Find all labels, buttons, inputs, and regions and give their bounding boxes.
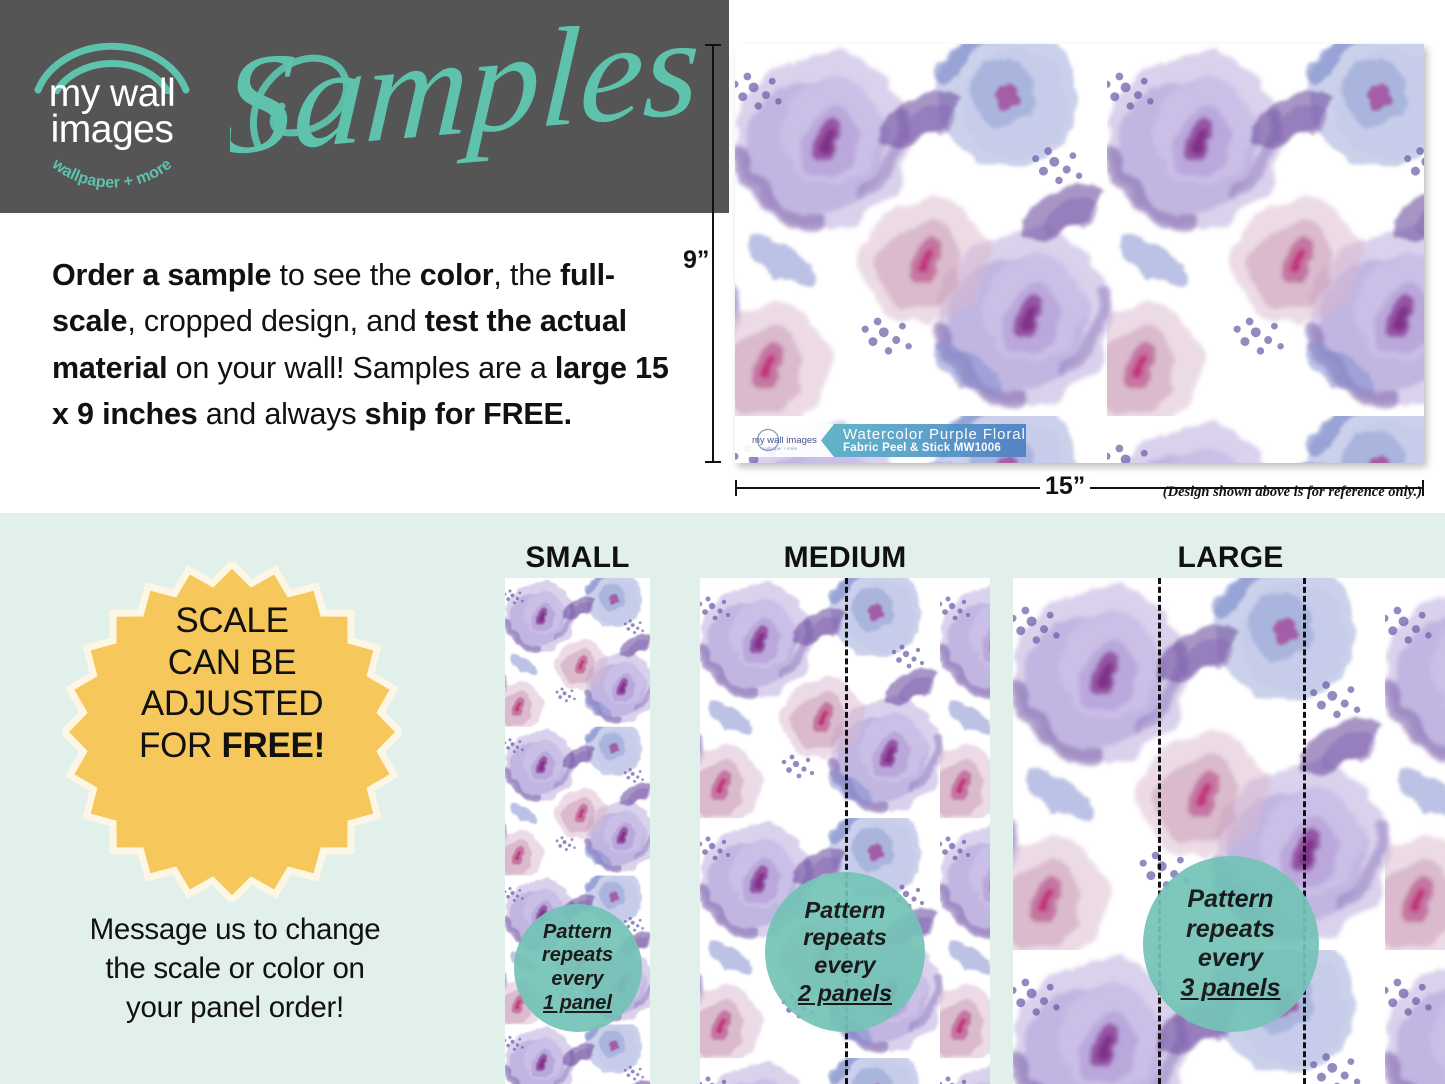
intro-segment-2: color <box>420 258 494 292</box>
product-label-bar: my wall images wallpaper + more Watercol… <box>741 424 1026 457</box>
pattern-repeat-badge-text: Patternrepeatsevery3 panels <box>1180 885 1280 1003</box>
svg-text:wallpaper + more: wallpaper + more <box>48 155 175 191</box>
badge-line-1: SCALE <box>62 600 402 642</box>
message-us-text: Message us to change the scale or color … <box>40 910 430 1028</box>
badge-text-line-3: every <box>1180 944 1280 974</box>
logo-tagline: wallpaper + more <box>22 144 202 198</box>
badge-text-line-4: 2 panels <box>798 980 892 1008</box>
badge-text-line-1: Pattern <box>542 921 613 945</box>
height-dimension-line <box>712 44 714 463</box>
reference-disclaimer: (Design shown above is for reference onl… <box>1062 484 1422 501</box>
svg-text:Samples: Samples <box>230 26 700 185</box>
intro-segment-7: on your wall! Samples are a <box>167 351 555 385</box>
sample-swatch-image: my wall images wallpaper + more Watercol… <box>735 44 1424 463</box>
intro-segment-1: to see the <box>271 258 420 292</box>
badge-panel-count: 1 panel <box>543 992 612 1014</box>
badge-text-line-2: repeats <box>798 924 892 952</box>
badge-text-line-2: repeats <box>542 944 613 968</box>
badge-line-4-pre: FOR <box>139 726 221 765</box>
badge-text-line-1: Pattern <box>1180 885 1280 915</box>
badge-line-4-bold: FREE! <box>221 726 325 765</box>
scale-title-medium: MEDIUM <box>700 541 990 575</box>
badge-panel-count: 3 panels <box>1180 974 1280 1002</box>
intro-segment-0: Order a sample <box>52 258 271 292</box>
badge-panel-count: 2 panels <box>798 980 892 1006</box>
pattern-repeat-badge-large: Patternrepeatsevery3 panels <box>1143 856 1319 1032</box>
intro-segment-10: ship for FREE. <box>365 397 572 431</box>
message-line-1: Message us to change <box>40 910 430 949</box>
label-logo-tab: my wall images wallpaper + more <box>741 424 834 457</box>
message-line-3: your panel order! <box>40 988 430 1027</box>
label-brand-logo-icon: my wall images wallpaper + more <box>746 427 830 454</box>
logo-wordmark: my wall images <box>22 76 202 149</box>
logo-line-1: my wall <box>22 76 202 112</box>
svg-text:wallpaper + more: wallpaper + more <box>762 446 798 451</box>
product-material: Fabric Peel & Stick MW1006 <box>843 442 1026 454</box>
watercolor-pattern <box>735 44 1424 463</box>
pattern-repeat-badge-text: Patternrepeatsevery2 panels <box>798 897 892 1008</box>
badge-text-line-1: Pattern <box>798 897 892 925</box>
panel-divider <box>1303 578 1306 1084</box>
panel-divider <box>1158 578 1161 1084</box>
scale-title-large: LARGE <box>1013 541 1445 575</box>
message-line-2: the scale or color on <box>40 949 430 988</box>
intro-paragraph: Order a sample to see the color, the ful… <box>52 252 677 437</box>
intro-segment-3: , the <box>493 258 560 292</box>
brand-logo: my wall images wallpaper + more <box>22 32 202 192</box>
intro-segment-9: and always <box>198 397 365 431</box>
badge-text-line-4: 3 panels <box>1180 974 1280 1004</box>
scale-adjust-badge-text: SCALE CAN BE ADJUSTED FOR FREE! <box>62 600 402 767</box>
pattern-repeat-badge-text: Patternrepeatsevery1 panel <box>542 921 613 1015</box>
pattern-repeat-badge-small: Patternrepeatsevery1 panel <box>514 904 642 1032</box>
badge-line-2: CAN BE <box>62 642 402 684</box>
pattern-repeat-badge-medium: Patternrepeatsevery2 panels <box>765 872 925 1032</box>
svg-text:my wall images: my wall images <box>752 435 817 446</box>
samples-script-title: Samples <box>230 26 700 196</box>
badge-text-line-4: 1 panel <box>542 992 613 1016</box>
badge-text-line-3: every <box>542 968 613 992</box>
scale-title-small: SMALL <box>505 541 650 575</box>
product-label-text: Watercolor Purple Floral Fabric Peel & S… <box>834 427 1026 455</box>
badge-text-line-2: repeats <box>1180 915 1280 945</box>
height-dimension-label: 9” <box>683 246 709 275</box>
badge-line-3: ADJUSTED <box>62 683 402 725</box>
header-banner: my wall images wallpaper + more Samples … <box>0 0 729 213</box>
badge-line-4: FOR FREE! <box>62 725 402 767</box>
product-name: Watercolor Purple Floral <box>843 427 1026 443</box>
infographic-canvas: my wall images wallpaper + more Samples … <box>0 0 1445 1084</box>
badge-text-line-3: every <box>798 952 892 980</box>
intro-segment-5: , cropped design, and <box>127 304 424 338</box>
